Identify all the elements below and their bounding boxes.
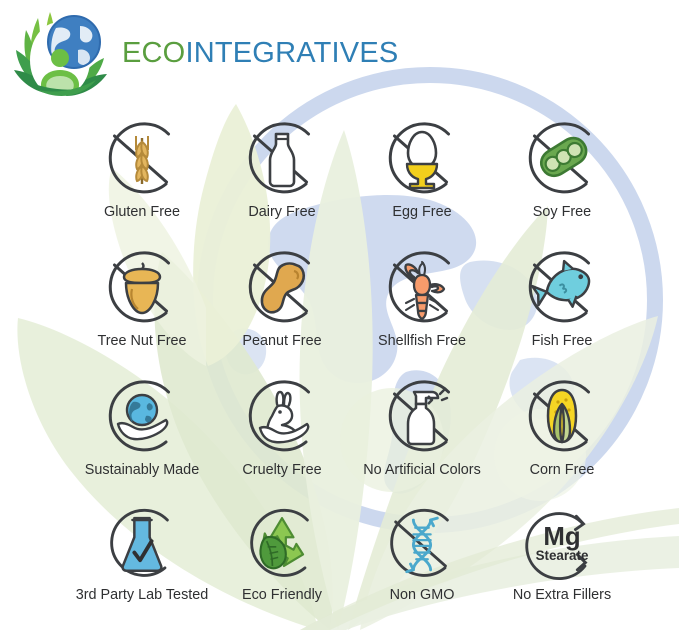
badge-label: Shellfish Free [378,334,466,349]
badge-label: Dairy Free [248,205,315,220]
brand-name-eco: ECO [122,37,185,69]
brand-name-integratives: INTEGRATIVES [185,37,398,69]
milk-bottle-icon [236,112,328,204]
badge-label: No Extra Fillers [513,588,611,603]
badge-egg-free: Egg Free [352,112,492,241]
badge-label: Egg Free [392,205,451,220]
badge-tree-nut-free: Tree Nut Free [72,241,212,370]
mg-text: Mg [543,523,580,551]
badge-corn-free: Corn Free [492,370,632,499]
badge-3rd-party-lab-tested: 3rd Party Lab Tested [72,499,212,628]
stearate-text: Stearate [536,548,589,563]
badge-label: Cruelty Free [242,463,321,478]
brand-header: ECOINTEGRATIVES [8,4,398,102]
dna-helix-icon [378,499,466,587]
mg-stearate-icon: Mg Stearate [518,499,606,587]
recycle-leaf-icon [238,499,326,587]
badge-label: Soy Free [533,205,591,220]
infographic-root: ECOINTEGRATIVES [0,0,679,630]
badge-label: 3rd Party Lab Tested [76,588,209,603]
badge-label: Peanut Free [242,334,321,349]
soybean-icon [516,112,608,204]
peanut-icon [236,241,328,333]
certification-badge-grid: Gluten Free Dairy Free [72,112,632,628]
badge-peanut-free: Peanut Free [212,241,352,370]
badge-dairy-free: Dairy Free [212,112,352,241]
badge-sustainably-made: Sustainably Made [72,370,212,499]
lobster-icon [376,241,468,333]
badge-no-extra-fillers: Mg Stearate No Extra Fillers [492,499,632,628]
badge-shellfish-free: Shellfish Free [352,241,492,370]
acorn-icon [96,241,188,333]
fish-icon [516,241,608,333]
badge-label: Tree Nut Free [97,334,186,349]
rabbit-hand-icon [236,370,328,462]
corn-cob-icon [516,370,608,462]
badge-no-artificial-colors: No Artificial Colors [352,370,492,499]
egg-cup-icon [376,112,468,204]
wheat-icon [96,112,188,204]
badge-gluten-free: Gluten Free [72,112,212,241]
flask-check-icon [98,499,186,587]
badge-label: Non GMO [390,588,455,603]
hand-globe-icon [96,370,188,462]
badge-label: Fish Free [532,334,593,349]
badge-cruelty-free: Cruelty Free [212,370,352,499]
badge-non-gmo: Non GMO [352,499,492,628]
badge-label: Eco Friendly [242,588,322,603]
badge-label: Corn Free [530,463,595,478]
badge-label: Sustainably Made [85,463,199,478]
badge-label: Gluten Free [104,205,180,220]
brand-wordmark: ECOINTEGRATIVES [122,37,398,70]
badge-label: No Artificial Colors [363,463,481,478]
eco-globe-leaf-logo-icon [8,4,112,102]
spray-bottle-icon [376,370,468,462]
badge-fish-free: Fish Free [492,241,632,370]
badge-soy-free: Soy Free [492,112,632,241]
badge-eco-friendly: Eco Friendly [212,499,352,628]
